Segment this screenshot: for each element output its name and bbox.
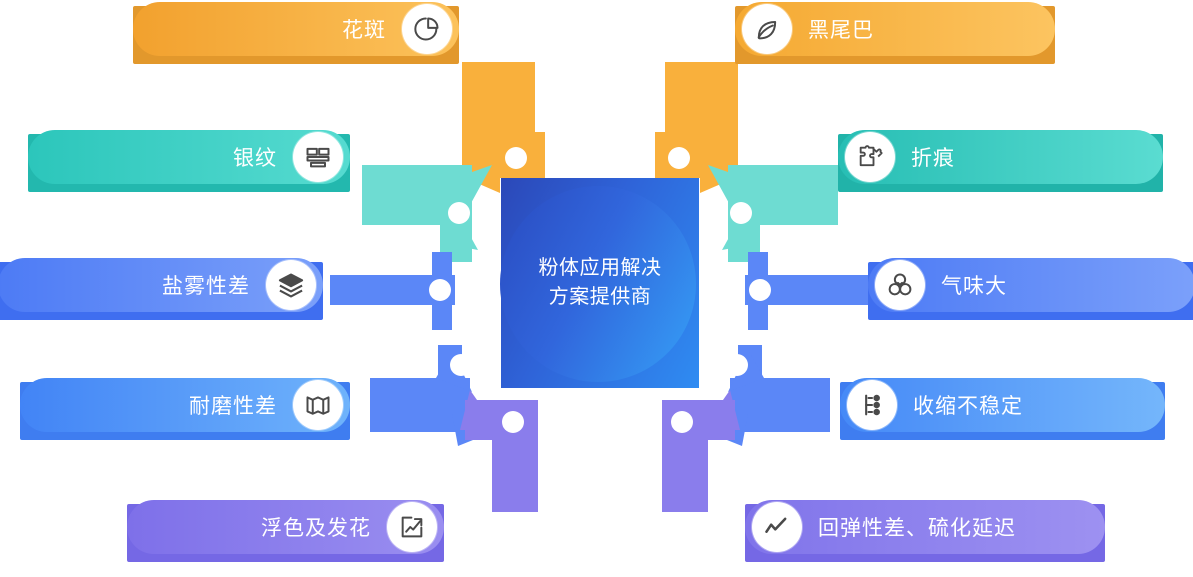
sitemap-icon [847, 380, 897, 430]
node-fuse[interactable]: 浮色及发花 [127, 500, 444, 558]
node-huaban-label: 花斑 [342, 14, 386, 44]
node-yanwu-label: 盐雾性差 [162, 270, 250, 300]
connector-qiwei [745, 252, 870, 330]
node-shousuo[interactable]: 收缩不稳定 [840, 378, 1165, 436]
connector-naimo [370, 345, 478, 446]
connector-yinwen [362, 165, 492, 262]
node-naimo-body[interactable]: 耐磨性差 [20, 378, 350, 432]
center-hub: 粉体应用解决 方案提供商 [501, 178, 699, 388]
line-chart-icon [752, 502, 802, 552]
pie-chart-icon [402, 4, 452, 54]
node-qiwei-label: 气味大 [941, 270, 1007, 300]
node-heiweiba-body[interactable]: 黑尾巴 [735, 2, 1055, 56]
node-shousuo-label: 收缩不稳定 [913, 390, 1023, 420]
recycle-icon [875, 260, 925, 310]
layers-icon [266, 260, 316, 310]
node-yinwen[interactable]: 银纹 [28, 130, 350, 188]
node-shousuo-body[interactable]: 收缩不稳定 [840, 378, 1165, 432]
node-yanwu[interactable]: 盐雾性差 [0, 258, 323, 316]
infographic-canvas: 粉体应用解决 方案提供商 花斑 黑尾巴 [0, 0, 1193, 577]
connector-huitan [662, 390, 740, 512]
open-book-icon [293, 380, 343, 430]
connector-shousuo [722, 345, 830, 446]
brick-wall-icon [293, 132, 343, 182]
leaf-icon [742, 4, 792, 54]
node-zhehen[interactable]: 折痕 [838, 130, 1163, 188]
node-naimo[interactable]: 耐磨性差 [20, 378, 350, 436]
node-huitan[interactable]: 回弹性差、硫化延迟 [745, 500, 1105, 558]
puzzle-piece-icon [845, 132, 895, 182]
node-heiweiba-label: 黑尾巴 [808, 14, 874, 44]
node-qiwei-body[interactable]: 气味大 [868, 258, 1193, 312]
connector-yanwu [330, 252, 455, 330]
trending-up-box-icon [387, 502, 437, 552]
connector-fuse [460, 390, 538, 512]
node-naimo-label: 耐磨性差 [189, 390, 277, 420]
node-zhehen-body[interactable]: 折痕 [838, 130, 1163, 184]
connector-zhehen [708, 165, 838, 262]
node-zhehen-label: 折痕 [911, 142, 955, 172]
node-huaban[interactable]: 花斑 [133, 2, 459, 60]
node-fuse-body[interactable]: 浮色及发花 [127, 500, 444, 554]
node-huitan-body[interactable]: 回弹性差、硫化延迟 [745, 500, 1105, 554]
node-yanwu-body[interactable]: 盐雾性差 [0, 258, 323, 312]
node-huitan-label: 回弹性差、硫化延迟 [818, 512, 1016, 542]
node-yinwen-body[interactable]: 银纹 [28, 130, 350, 184]
node-heiweiba[interactable]: 黑尾巴 [735, 2, 1055, 60]
node-huaban-body[interactable]: 花斑 [133, 2, 459, 56]
center-hub-label: 粉体应用解决 方案提供商 [501, 178, 699, 388]
node-yinwen-label: 银纹 [233, 142, 277, 172]
node-qiwei[interactable]: 气味大 [868, 258, 1193, 316]
node-fuse-label: 浮色及发花 [261, 512, 371, 542]
